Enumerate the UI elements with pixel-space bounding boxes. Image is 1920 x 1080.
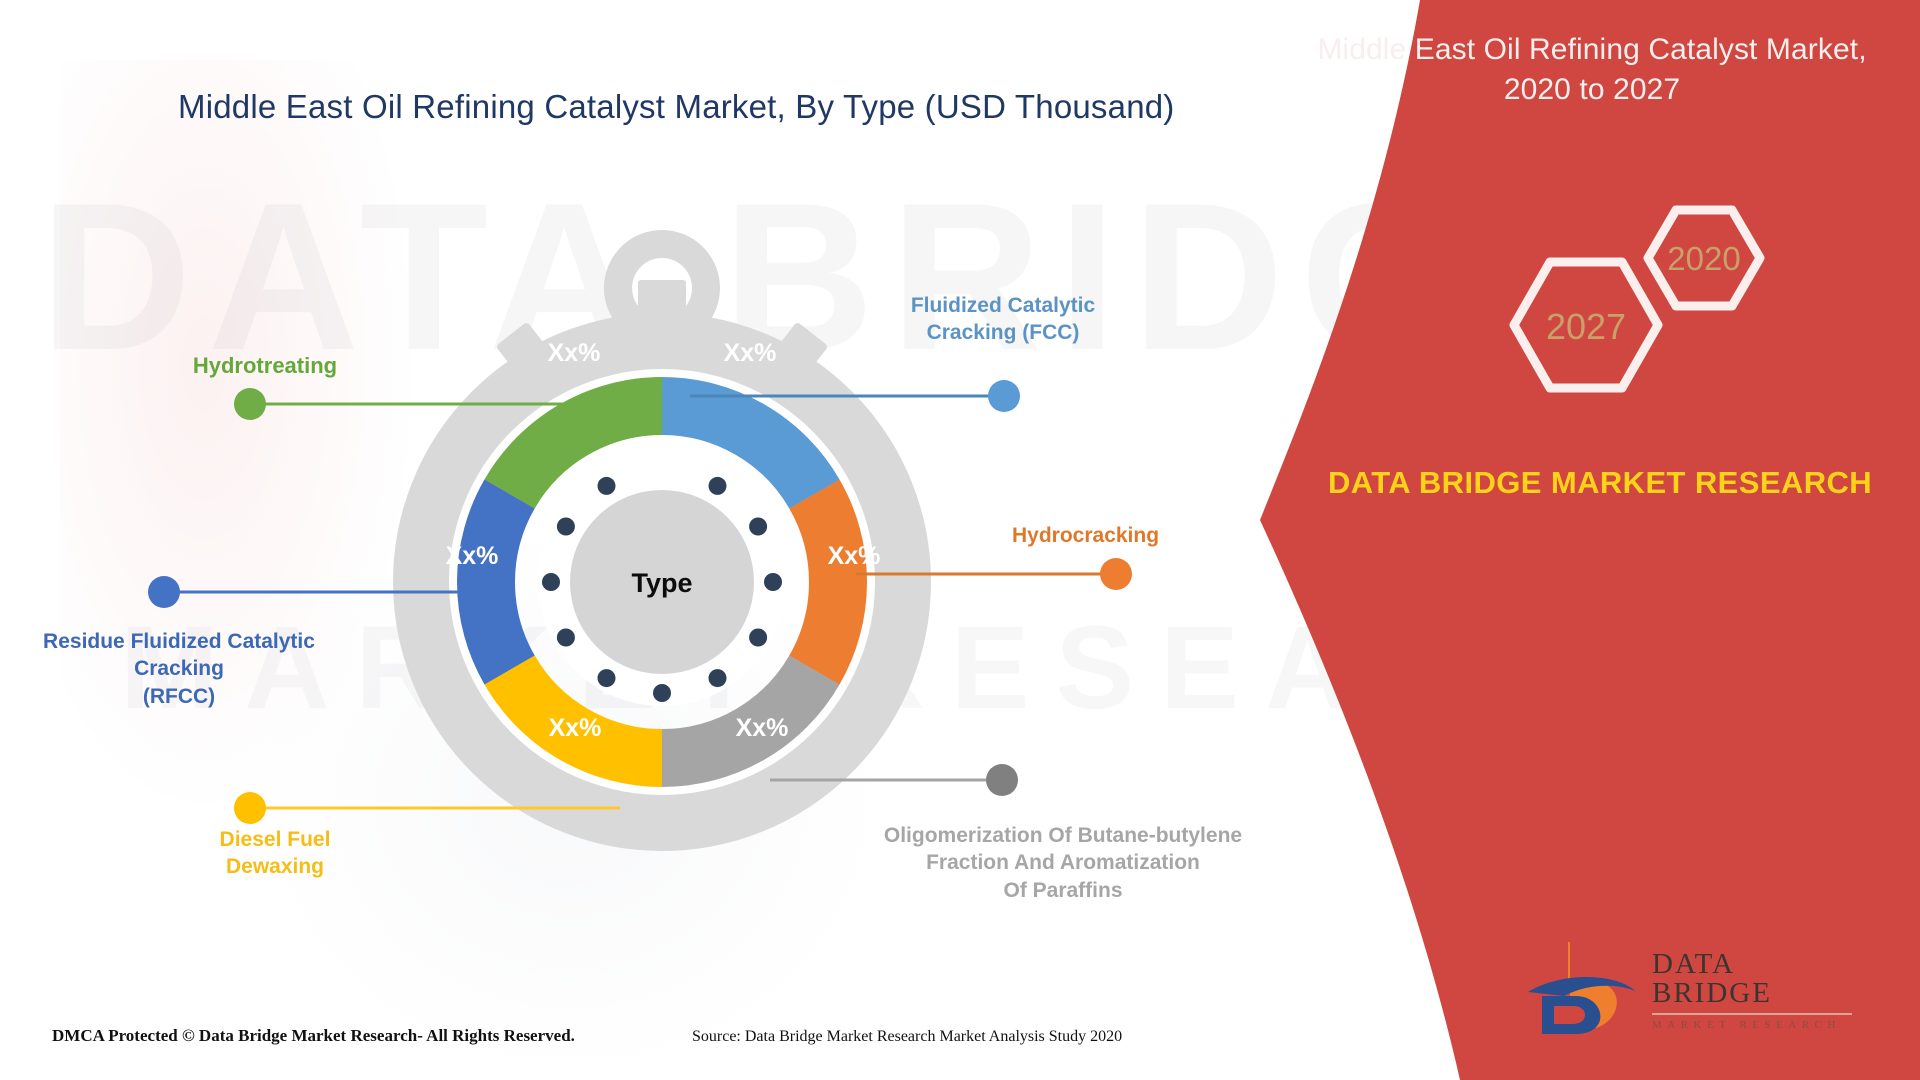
right-panel-title: Middle East Oil Refining Catalyst Market… (1312, 30, 1872, 109)
leader-dot-oligomerization[interactable] (986, 764, 1018, 796)
label-dewaxing-line-1: Diesel Fuel (170, 826, 380, 853)
red-panel-shape (1260, 0, 1920, 1080)
footer-source: Source: Data Bridge Market Research Mark… (692, 1028, 1122, 1046)
label-fcc-line-1: Fluidized Catalytic (878, 292, 1128, 319)
leader-dot-fcc[interactable] (988, 380, 1020, 412)
label-hydrocracking: Hydrocracking (1012, 522, 1242, 549)
hexagon-2027: 2027 (1514, 262, 1658, 388)
hexagon-2027-year: 2027 (1546, 306, 1626, 347)
label-hydrocracking-text: Hydrocracking (1012, 524, 1159, 547)
hexagon-2020-year: 2020 (1667, 240, 1740, 277)
hexagon-2020: 2020 (1648, 210, 1760, 306)
hexagon-years-group: 2020 2027 (1480, 200, 1800, 440)
leader-dot-dewaxing[interactable] (234, 792, 266, 824)
leader-dot-hydrotreating[interactable] (234, 388, 266, 420)
label-oligomerization-line-2: Fraction And Aromatization (838, 849, 1288, 876)
label-oligomerization-line-1: Oligomerization Of Butane-butylene (838, 822, 1288, 849)
label-fcc: Fluidized Catalytic Cracking (FCC) (878, 292, 1128, 347)
leader-dot-hydrocracking[interactable] (1100, 558, 1132, 590)
logo-subtitle: MARKET RESEARCH (1652, 1019, 1862, 1031)
logo-divider (1652, 1013, 1852, 1015)
label-oligomerization-line-3: Of Paraffins (838, 877, 1288, 904)
right-panel-brand: DATA BRIDGE MARKET RESEARCH (1320, 462, 1880, 503)
label-fcc-line-2: Cracking (FCC) (878, 319, 1128, 346)
footer-dmca: DMCA Protected © Data Bridge Market Rese… (52, 1026, 575, 1046)
label-rfcc-line-1: Residue Fluidized Catalytic (4, 628, 354, 655)
leader-dot-rfcc[interactable] (148, 576, 180, 608)
logo-mark-counter-icon (1554, 1006, 1585, 1024)
footer: DMCA Protected © Data Bridge Market Rese… (0, 1026, 1280, 1060)
data-bridge-logo: DATA BRIDGE MARKET RESEARCH (1524, 934, 1854, 1042)
label-rfcc: Residue Fluidized Catalytic Cracking (RF… (4, 628, 354, 710)
label-hydrotreating-text: Hydrotreating (193, 353, 337, 378)
right-red-panel (1260, 0, 1920, 1080)
logo-wordmark: DATA BRIDGE MARKET RESEARCH (1652, 950, 1862, 1031)
label-hydrotreating: Hydrotreating (150, 352, 380, 381)
label-diesel-fuel-dewaxing: Diesel Fuel Dewaxing (170, 826, 380, 881)
label-rfcc-line-3: (RFCC) (4, 683, 354, 710)
label-rfcc-line-2: Cracking (4, 655, 354, 682)
logo-name: DATA BRIDGE (1652, 950, 1862, 1008)
label-oligomerization: Oligomerization Of Butane-butylene Fract… (838, 822, 1288, 904)
label-dewaxing-line-2: Dewaxing (170, 853, 380, 880)
infographic-canvas: DATA BRIDGE MARKET RESEARCH Middle East … (0, 0, 1920, 1080)
